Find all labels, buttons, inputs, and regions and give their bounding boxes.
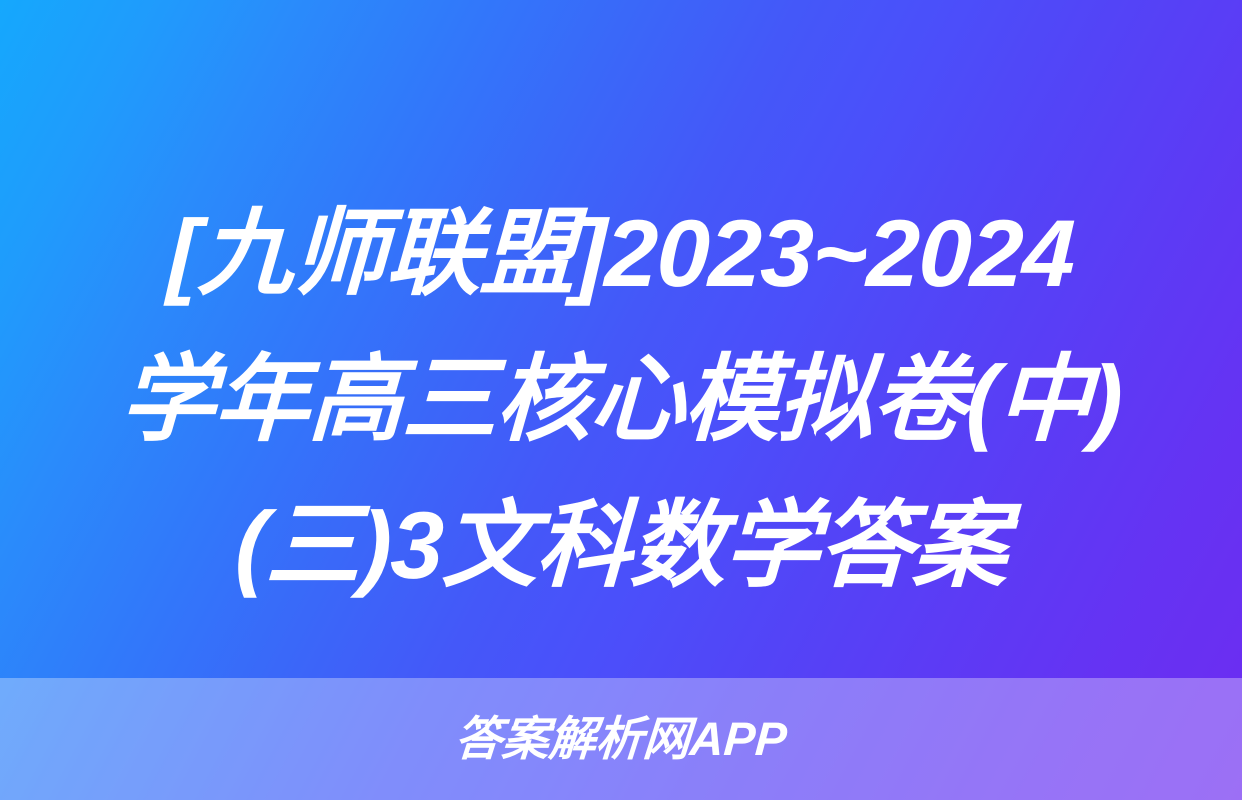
title-line-2: 学年高三核心模拟卷(中)	[47, 327, 1194, 473]
poster-canvas: [九师联盟]2023~2024 学年高三核心模拟卷(中) (三)3文科数学答案 …	[0, 0, 1242, 800]
footer-brand-band: 答案解析网APP	[0, 678, 1242, 800]
brand-name-label: 答案解析网APP	[453, 715, 788, 764]
title-line-3: (三)3文科数学答案	[47, 473, 1194, 619]
title-line-1: [九师联盟]2023~2024	[47, 181, 1194, 327]
poster-title: [九师联盟]2023~2024 学年高三核心模拟卷(中) (三)3文科数学答案	[0, 181, 1242, 619]
